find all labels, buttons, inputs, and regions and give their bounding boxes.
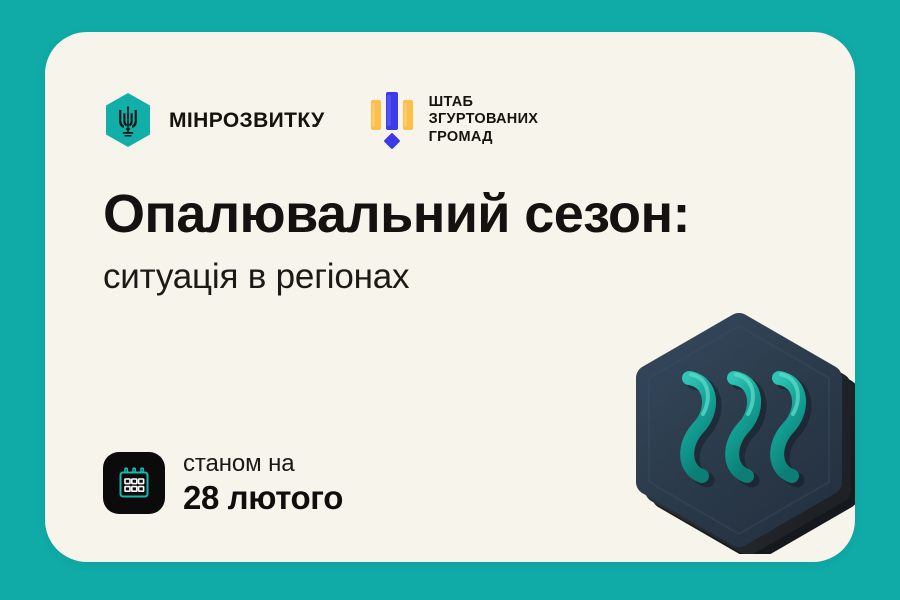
logo-shtab-line-3: ГРОМАД [429, 129, 539, 146]
logo-minrozvytku[interactable]: МІНРОЗВИТКУ [103, 92, 325, 148]
logo-row: МІНРОЗВИТКУ ШТАБ З [103, 90, 538, 150]
date-value: 28 лютого [183, 480, 343, 516]
page-subtitle: ситуація в регіонах [103, 256, 803, 298]
hexagon-trident-icon [103, 92, 153, 148]
headline-group: Опалювальний сезон: ситуація в регіонах [103, 184, 803, 298]
logo-shtab-line-1: ШТАБ [429, 94, 539, 111]
calendar-icon [103, 452, 165, 514]
date-block: станом на 28 лютого [103, 450, 343, 516]
heat-waves-hexagon-icon [623, 304, 855, 554]
bars-diamond-icon [371, 90, 413, 150]
date-label: станом на [183, 450, 343, 478]
date-text-group: станом на 28 лютого [183, 450, 343, 516]
logo-shtab-label: ШТАБ ЗГУРТОВАНИХ ГРОМАД [429, 94, 539, 145]
poster-canvas: МІНРОЗВИТКУ ШТАБ З [0, 0, 900, 600]
logo-shtab-line-2: ЗГУРТОВАНИХ [429, 111, 539, 128]
page-title: Опалювальний сезон: [103, 184, 803, 244]
logo-shtab[interactable]: ШТАБ ЗГУРТОВАНИХ ГРОМАД [371, 90, 539, 150]
content-card: МІНРОЗВИТКУ ШТАБ З [45, 32, 855, 562]
logo-minrozvytku-label: МІНРОЗВИТКУ [169, 110, 325, 131]
